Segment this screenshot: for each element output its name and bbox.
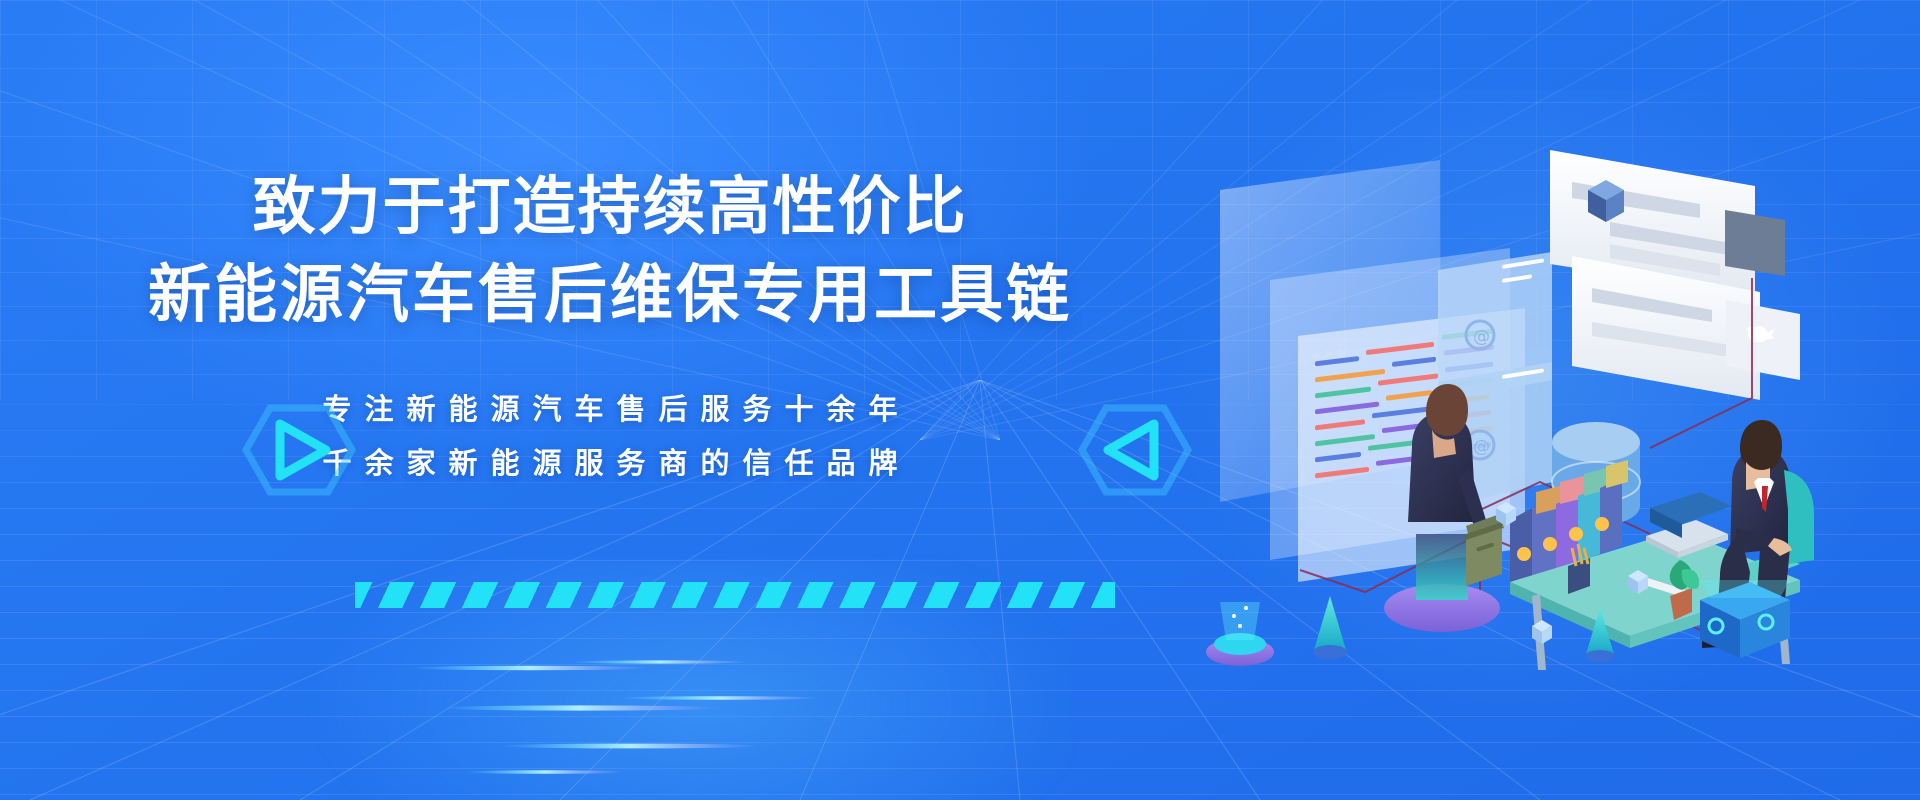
play-triangle-right-icon (240, 398, 358, 502)
diagonal-stripe-bar (355, 582, 1115, 608)
hero-copy: 致力于打造持续高性价比 新能源汽车售后维保专用工具链 专注新能源汽车售后服务十余… (0, 0, 1220, 800)
svg-text:@: @ (1473, 327, 1490, 347)
headline-line-2: 新能源汽车售后维保专用工具链 (0, 256, 1220, 334)
headline-line-1: 致力于打造持续高性价比 (0, 168, 1220, 246)
isometric-business-illustration: @ @ (1180, 130, 1820, 690)
hero-banner: 致力于打造持续高性价比 新能源汽车售后维保专用工具链 专注新能源汽车售后服务十余… (0, 0, 1920, 800)
subtitle-line-2: 千余家新能源服务商的信任品牌 (0, 440, 1220, 482)
subtitle-line-1: 专注新能源汽车售后服务十余年 (0, 386, 1220, 428)
play-triangle-left-icon (1076, 398, 1194, 502)
svg-text:@: @ (1473, 437, 1490, 457)
bird-icon-card (1726, 300, 1800, 380)
hologram-pedestal (1206, 602, 1274, 666)
